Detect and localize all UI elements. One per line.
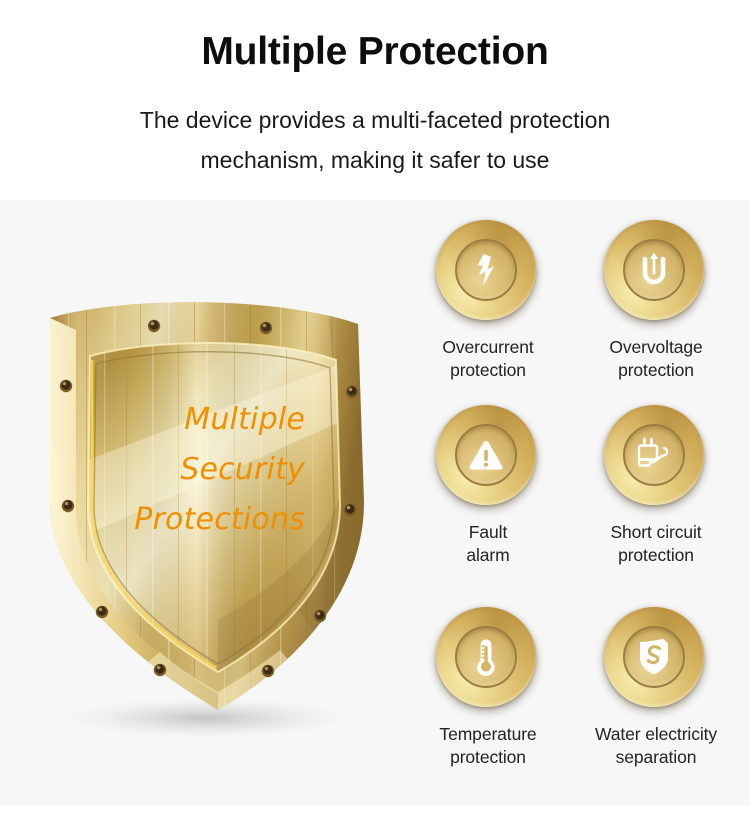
label-line-2: alarm <box>408 544 568 567</box>
badge-water-electricity <box>604 607 708 711</box>
page-subtitle-line-1: The device provides a multi-faceted prot… <box>0 100 750 140</box>
label-line-1: Short circuit <box>576 521 736 544</box>
shield-s-icon <box>623 626 685 688</box>
feature-item-fault-alarm[interactable]: Fault alarm <box>408 405 568 567</box>
badge-temperature <box>436 607 540 711</box>
badge-fault-alarm <box>436 405 540 509</box>
label-line-2: protection <box>576 359 736 382</box>
feature-grid: Overcurrent protection <box>408 220 738 800</box>
voltage-up-arrow-icon <box>623 239 685 301</box>
feature-item-overvoltage[interactable]: Overvoltage protection <box>576 220 736 382</box>
feature-item-short-circuit[interactable]: Short circuit protection <box>576 405 736 567</box>
feature-item-overcurrent[interactable]: Overcurrent protection <box>408 220 568 382</box>
header-section: Multiple Protection The device provides … <box>0 0 750 200</box>
feature-item-temperature[interactable]: Temperature protection <box>408 607 568 769</box>
thermometer-icon <box>455 626 517 688</box>
label-line-1: Overvoltage <box>576 336 736 359</box>
label-line-1: Temperature <box>408 723 568 746</box>
feature-label-temperature: Temperature protection <box>408 723 568 769</box>
label-line-2: protection <box>408 359 568 382</box>
label-line-2: separation <box>576 746 736 769</box>
content-panel: Multiple Security Protections <box>0 200 750 806</box>
lightning-bolt-icon <box>455 239 517 301</box>
feature-label-water-electricity: Water electricity separation <box>576 723 736 769</box>
label-line-1: Fault <box>408 521 568 544</box>
badge-overvoltage <box>604 220 708 324</box>
page-subtitle-line-2: mechanism, making it safer to use <box>0 140 750 180</box>
label-line-1: Water electricity <box>576 723 736 746</box>
page-title: Multiple Protection <box>0 27 750 77</box>
gold-shield-graphic: Multiple Security Protections <box>28 290 388 740</box>
feature-label-fault-alarm: Fault alarm <box>408 521 568 567</box>
badge-overcurrent <box>436 220 540 324</box>
badge-short-circuit <box>604 405 708 509</box>
label-line-2: protection <box>576 544 736 567</box>
feature-label-short-circuit: Short circuit protection <box>576 521 736 567</box>
feature-label-overcurrent: Overcurrent protection <box>408 336 568 382</box>
shield-icon <box>28 290 388 740</box>
warning-triangle-icon <box>455 424 517 486</box>
label-line-1: Overcurrent <box>408 336 568 359</box>
infographic-page: Multiple Protection The device provides … <box>0 0 750 817</box>
feature-label-overvoltage: Overvoltage protection <box>576 336 736 382</box>
page-subtitle: The device provides a multi-faceted prot… <box>0 100 750 180</box>
label-line-2: protection <box>408 746 568 769</box>
power-plug-icon <box>623 424 685 486</box>
feature-item-water-electricity[interactable]: Water electricity separation <box>576 607 736 769</box>
